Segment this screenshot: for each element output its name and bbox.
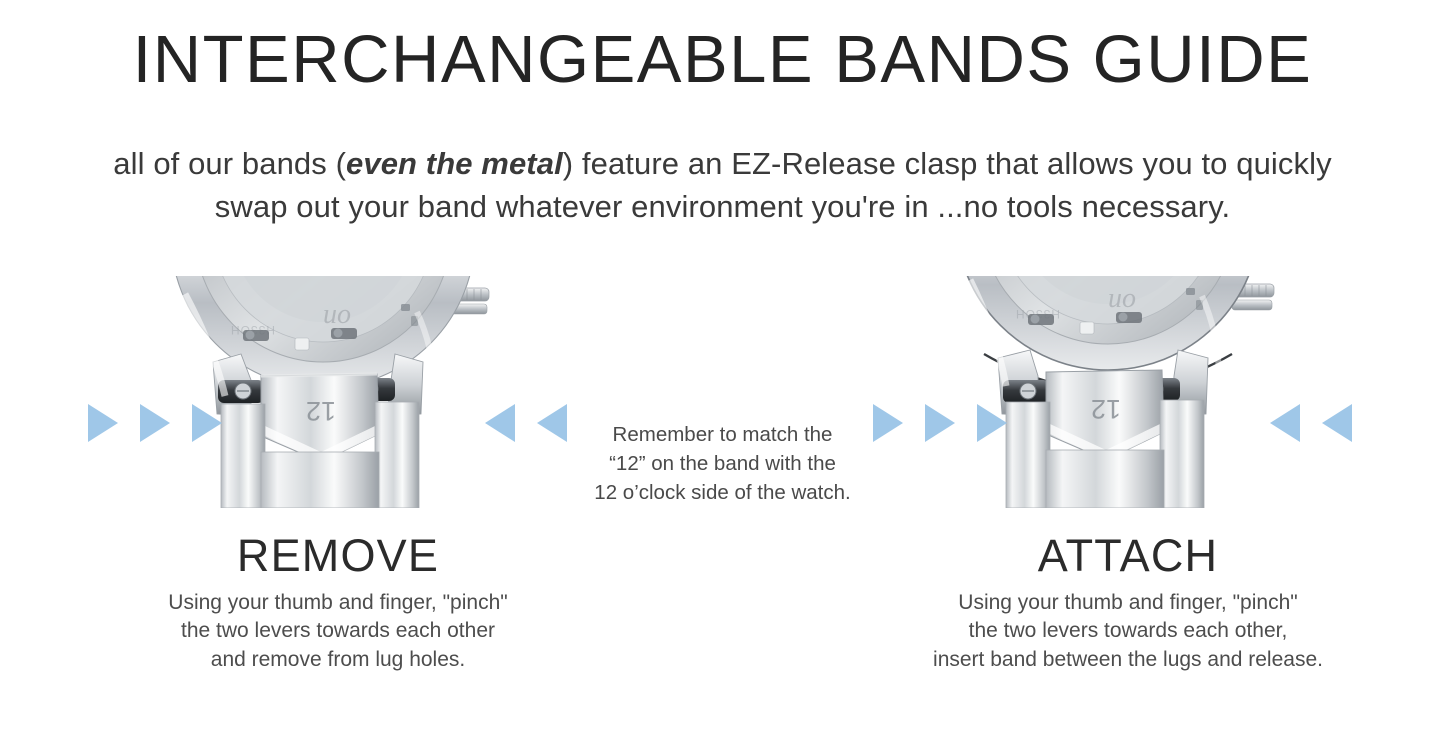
step-attach-desc-line-2: the two levers towards each other, [848, 617, 1408, 646]
band-marking-12: 12 [306, 396, 336, 426]
arrow-right-icon [925, 404, 955, 442]
step-remove-title: REMOVE [58, 532, 618, 581]
step-attach-desc-line-3: insert band between the lugs and release… [848, 646, 1408, 675]
page-title: INTERCHANGEABLE BANDS GUIDE [0, 26, 1445, 93]
panel-remove: on H33OH [100, 276, 555, 512]
step-attach-description: Using your thumb and finger, "pinch" the… [848, 589, 1408, 675]
intro-paragraph: all of our bands (even the metal) featur… [78, 142, 1368, 228]
band-marking-12: 12 [1091, 394, 1121, 424]
step-attach-desc-line-1: Using your thumb and finger, "pinch" [848, 589, 1408, 618]
step-remove-desc-line-3: and remove from lug holes. [58, 646, 618, 675]
arrow-right-icon [140, 404, 170, 442]
arrow-left-icon [1322, 404, 1352, 442]
intro-emphasis: even the metal [346, 146, 563, 181]
step-remove-desc-line-1: Using your thumb and finger, "pinch" [58, 589, 618, 618]
step-remove-description: Using your thumb and finger, "pinch" the… [58, 589, 618, 675]
center-note-line-1: Remember to match the [553, 420, 893, 449]
center-note-line-3: 12 o’clock side of the watch. [553, 478, 893, 507]
watch-photo-attach: on H33OH [940, 276, 1285, 508]
center-note: Remember to match the “12” on the band w… [553, 420, 893, 507]
arrow-group-remove-left [88, 404, 222, 442]
step-attach-title: ATTACH [848, 532, 1408, 581]
panel-attach: on H33OH [885, 276, 1340, 512]
arrow-left-icon [485, 404, 515, 442]
step-remove-desc-line-2: the two levers towards each other [58, 617, 618, 646]
arrow-group-attach-left [873, 404, 1007, 442]
step-remove: REMOVE Using your thumb and finger, "pin… [58, 532, 618, 674]
arrow-left-icon [1270, 404, 1300, 442]
arrow-group-attach-right [1270, 404, 1352, 442]
watch-photo-remove: on H33OH [155, 276, 500, 508]
center-note-line-2: “12” on the band with the [553, 449, 893, 478]
step-attach: ATTACH Using your thumb and finger, "pin… [848, 532, 1408, 674]
arrow-right-icon [977, 404, 1007, 442]
arrow-right-icon [88, 404, 118, 442]
intro-text-part1: all of our bands ( [113, 146, 346, 181]
arrow-right-icon [192, 404, 222, 442]
